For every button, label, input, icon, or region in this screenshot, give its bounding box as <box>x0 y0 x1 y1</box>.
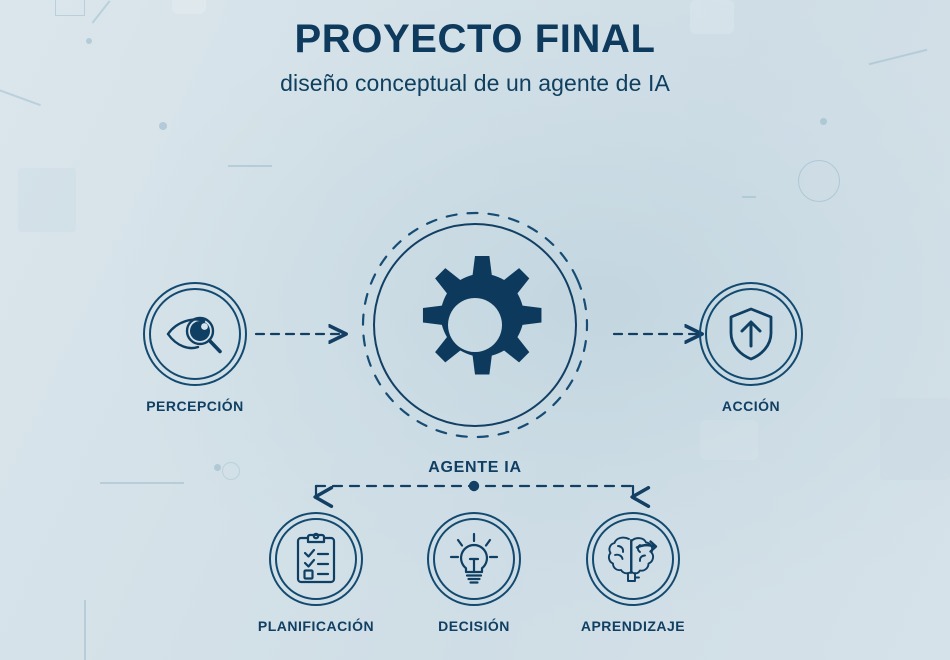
accion-label: ACCIÓN <box>676 398 826 414</box>
aprendizaje-icon-slot <box>586 512 680 606</box>
connector-branch-hub-dot <box>469 481 479 491</box>
decor-circle-small <box>222 462 240 480</box>
decision-rings <box>427 512 521 606</box>
accion-rings <box>699 282 803 386</box>
gear-icon <box>400 250 550 400</box>
node-aprendizaje[interactable]: APRENDIZAJE <box>558 512 708 634</box>
agent-core-node[interactable]: AGENTE IA <box>355 205 595 477</box>
agent-core-rings <box>355 205 595 445</box>
infographic-canvas: PROYECTO FINAL diseño conceptual de un a… <box>0 0 950 660</box>
decor-line-bottom <box>100 482 184 484</box>
decor-soft-rect-top <box>172 0 206 14</box>
decor-soft-glow <box>700 420 758 460</box>
decor-shade-right <box>880 398 950 480</box>
brain-arrow-icon <box>605 533 661 585</box>
decor-circle-large <box>798 160 840 202</box>
shield-arrow-up-icon <box>725 305 777 363</box>
node-percepcion[interactable]: PERCEPCIÓN <box>120 282 270 414</box>
decor-line-vertical <box>84 600 86 660</box>
page-header: PROYECTO FINAL diseño conceptual de un a… <box>0 18 950 97</box>
node-planificacion[interactable]: PLANIFICACIÓN <box>241 512 391 634</box>
clipboard-checklist-icon <box>294 532 338 586</box>
decision-label: DECISIÓN <box>399 618 549 634</box>
accion-icon-slot <box>699 282 803 386</box>
percepcion-icon-slot <box>143 282 247 386</box>
percepcion-rings <box>143 282 247 386</box>
decor-dot-c <box>214 464 221 471</box>
decor-line-left-mid <box>228 165 272 167</box>
decision-icon-slot <box>427 512 521 606</box>
planificacion-label: PLANIFICACIÓN <box>241 618 391 634</box>
planificacion-icon-slot <box>269 512 363 606</box>
decor-line-right <box>742 196 756 198</box>
aprendizaje-label: APRENDIZAJE <box>558 618 708 634</box>
planificacion-rings <box>269 512 363 606</box>
node-accion[interactable]: ACCIÓN <box>676 282 826 414</box>
page-title: PROYECTO FINAL <box>0 18 950 60</box>
page-subtitle: diseño conceptual de un agente de IA <box>0 70 950 97</box>
lightbulb-icon <box>448 532 500 586</box>
agent-core-label: AGENTE IA <box>355 459 595 477</box>
decor-shade-left <box>18 168 76 232</box>
percepcion-label: PERCEPCIÓN <box>120 398 270 414</box>
decor-dot-b <box>159 122 167 130</box>
decor-dot-d <box>820 118 827 125</box>
aprendizaje-rings <box>586 512 680 606</box>
eye-magnifier-icon <box>164 308 226 360</box>
decor-square-outline <box>55 0 85 16</box>
node-decision[interactable]: DECISIÓN <box>399 512 549 634</box>
